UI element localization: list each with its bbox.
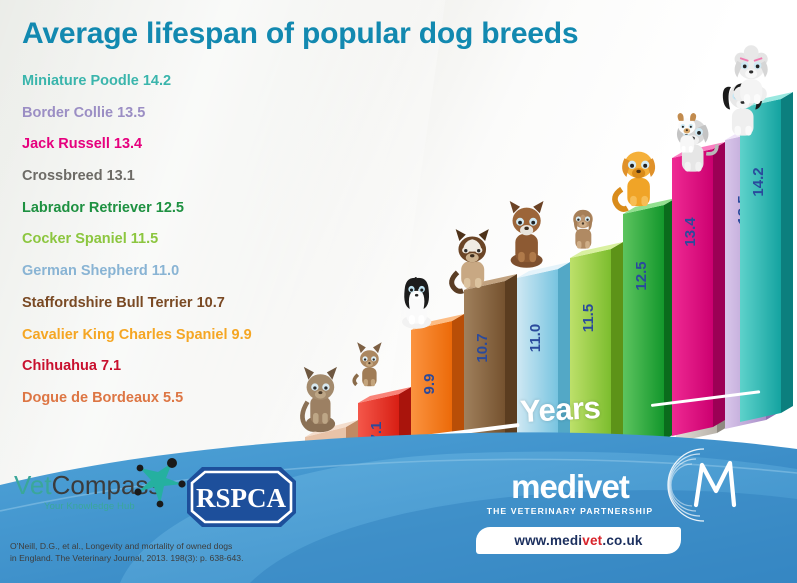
- bar-value-label: 12.5: [633, 261, 650, 290]
- medivet-url-pill[interactable]: www.medivet.co.uk: [476, 527, 681, 554]
- rspca-logo: RSPCA: [186, 466, 297, 528]
- vetcompass-star-icon: [128, 458, 188, 514]
- bar-value-label: 11.5: [580, 304, 597, 332]
- citation-line-1: O'Neill, D.G., et al., Longevity and mor…: [10, 540, 243, 552]
- dog-figure-cocker-spaniel: [573, 210, 593, 249]
- citation: O'Neill, D.G., et al., Longevity and mor…: [10, 540, 243, 565]
- citation-line-2: in England. The Veterinary Journal, 2013…: [10, 552, 243, 564]
- dog-figure-chihuahua: [354, 342, 381, 386]
- medivet-wordmark: medivet: [470, 470, 670, 503]
- dog-figure-staffordshire-bull-terrier: [452, 229, 489, 291]
- rspca-label: RSPCA: [196, 483, 287, 513]
- dog-figure-cavalier-king-charles-spaniel: [402, 277, 431, 329]
- bar-value-label: 13.4: [682, 217, 699, 247]
- medivet-tagline: THE VETERINARY PARTNERSHIP: [470, 506, 670, 516]
- medivet-logo: medivet THE VETERINARY PARTNERSHIP: [470, 470, 670, 516]
- bar-value-label: 10.7: [474, 333, 491, 362]
- dog-figure-miniature-poodle: [734, 45, 768, 104]
- bar-value-label: 9.9: [421, 374, 438, 395]
- dog-figure-labrador-retriever: [615, 152, 655, 209]
- bar-value-label: 14.2: [750, 167, 767, 196]
- bar-jack-russell-vis: 13.4: [672, 142, 725, 436]
- bar-value-label: 11.0: [527, 324, 544, 352]
- bar-miniature-poodle: 14.2: [740, 92, 793, 422]
- vetcompass-vet-text: Vet: [14, 470, 52, 500]
- dog-figure-german-shepherd: [510, 201, 544, 268]
- medivet-url: www.medivet.co.uk: [514, 533, 642, 548]
